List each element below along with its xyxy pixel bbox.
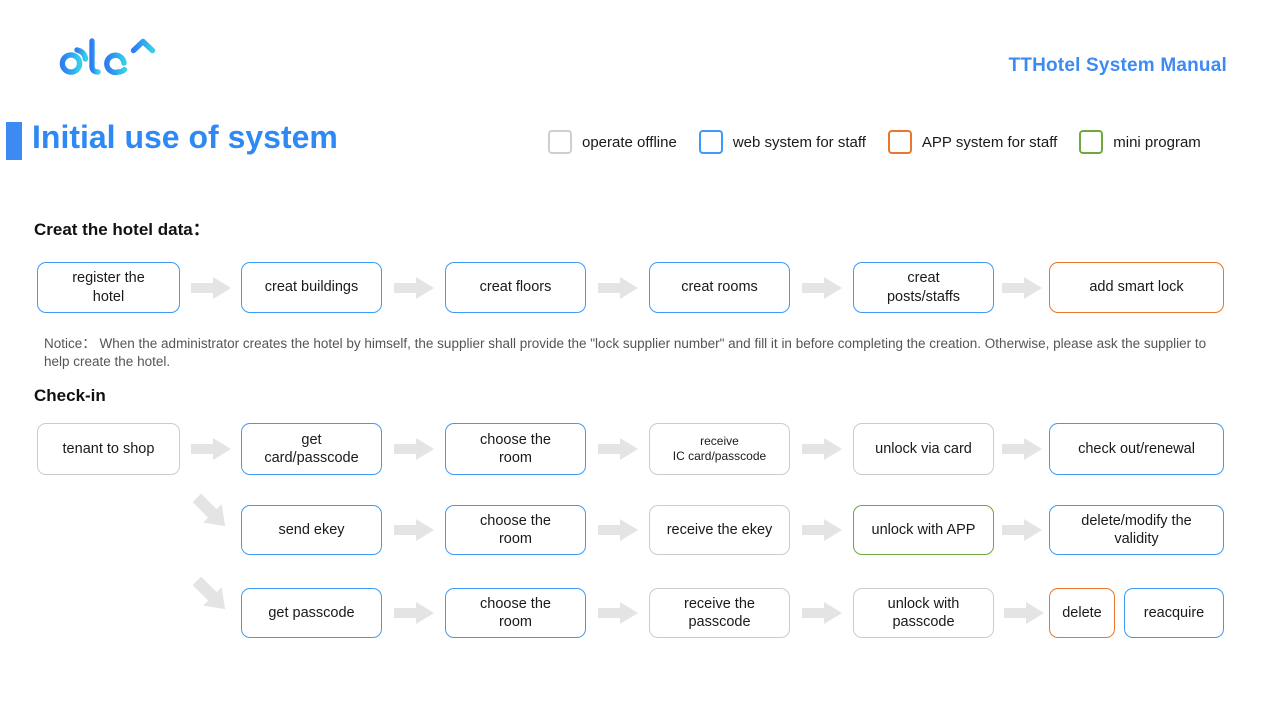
notice-text: Notice： When the administrator creates t… bbox=[44, 335, 1212, 371]
flow-node-creat-floors[interactable]: creat floors bbox=[445, 262, 586, 313]
flow-node-receive-the-ekey[interactable]: receive the ekey bbox=[649, 505, 790, 555]
legend-swatch-mini bbox=[1079, 130, 1103, 154]
flow-arrow-right-icon bbox=[598, 438, 638, 460]
flow-arrow-right-icon bbox=[394, 602, 434, 624]
flow-node-delete[interactable]: delete bbox=[1049, 588, 1115, 638]
legend-label-mini: mini program bbox=[1113, 134, 1201, 151]
flow-arrow-right-icon bbox=[394, 277, 434, 299]
flow-node-unlock-via-card[interactable]: unlock via card bbox=[853, 423, 994, 475]
flow-arrow-right-icon bbox=[598, 602, 638, 624]
flow-node-get-card-passcode[interactable]: getcard/passcode bbox=[241, 423, 382, 475]
legend-label-offline: operate offline bbox=[582, 134, 677, 151]
flow-node-receive-ic-card-passcode[interactable]: receiveIC card/passcode bbox=[649, 423, 790, 475]
flow-arrow-right-icon bbox=[598, 277, 638, 299]
flow-node-send-ekey[interactable]: send ekey bbox=[241, 505, 382, 555]
flow-arrow-right-icon bbox=[1002, 277, 1042, 299]
flow-node-creat-posts-staffs[interactable]: creatposts/staffs bbox=[853, 262, 994, 313]
flow-node-receive-the-passcode[interactable]: receive thepasscode bbox=[649, 588, 790, 638]
flow-node-creat-rooms[interactable]: creat rooms bbox=[649, 262, 790, 313]
legend-item-mini[interactable]: mini program bbox=[1079, 130, 1201, 154]
legend-label-web: web system for staff bbox=[733, 134, 866, 151]
manual-title: TTHotel System Manual bbox=[1008, 55, 1227, 77]
flow-arrow-right-icon bbox=[1002, 438, 1042, 460]
legend-item-web[interactable]: web system for staff bbox=[699, 130, 866, 154]
legend-label-app: APP system for staff bbox=[922, 134, 1057, 151]
flow-node-choose-the-room[interactable]: choose theroom bbox=[445, 588, 586, 638]
flow-node-choose-the-room[interactable]: choose theroom bbox=[445, 505, 586, 555]
legend-item-offline[interactable]: operate offline bbox=[548, 130, 677, 154]
flow-node-reacquire[interactable]: reacquire bbox=[1124, 588, 1224, 638]
flow-arrow-right-icon bbox=[1004, 602, 1044, 624]
legend-item-app[interactable]: APP system for staff bbox=[888, 130, 1057, 154]
flow-arrow-diagonal-icon bbox=[188, 489, 234, 535]
flow-node-unlock-with-passcode[interactable]: unlock withpasscode bbox=[853, 588, 994, 638]
flow-arrow-right-icon bbox=[394, 519, 434, 541]
flow-arrow-right-icon bbox=[802, 602, 842, 624]
section-heading-check-in: Check-in bbox=[34, 386, 106, 406]
flow-node-unlock-with-app[interactable]: unlock with APP bbox=[853, 505, 994, 555]
hotel-logo bbox=[30, 26, 160, 84]
flow-node-creat-buildings[interactable]: creat buildings bbox=[241, 262, 382, 313]
flow-node-check-out-renewal[interactable]: check out/renewal bbox=[1049, 423, 1224, 475]
flow-arrow-right-icon bbox=[802, 519, 842, 541]
flow-arrow-right-icon bbox=[394, 438, 434, 460]
flow-arrow-right-icon bbox=[802, 277, 842, 299]
legend-swatch-app bbox=[888, 130, 912, 154]
flow-arrow-right-icon bbox=[191, 277, 231, 299]
flow-node-delete-modify-the-validity[interactable]: delete/modify thevalidity bbox=[1049, 505, 1224, 555]
flow-arrow-diagonal-icon bbox=[188, 572, 234, 618]
legend: operate offlineweb system for staffAPP s… bbox=[548, 130, 1223, 154]
title-accent-bar bbox=[6, 122, 22, 160]
flow-arrow-right-icon bbox=[191, 438, 231, 460]
flow-arrow-right-icon bbox=[598, 519, 638, 541]
page-title: Initial use of system bbox=[32, 119, 338, 156]
flow-node-add-smart-lock[interactable]: add smart lock bbox=[1049, 262, 1224, 313]
flow-arrow-right-icon bbox=[1002, 519, 1042, 541]
legend-swatch-offline bbox=[548, 130, 572, 154]
section-heading-create-hotel-data: Creat the hotel data： bbox=[34, 215, 210, 240]
flow-node-get-passcode[interactable]: get passcode bbox=[241, 588, 382, 638]
flow-arrow-right-icon bbox=[802, 438, 842, 460]
legend-swatch-web bbox=[699, 130, 723, 154]
flow-node-tenant-to-shop[interactable]: tenant to shop bbox=[37, 423, 180, 475]
flow-node-register-the-hotel[interactable]: register thehotel bbox=[37, 262, 180, 313]
flow-node-choose-the-room[interactable]: choose theroom bbox=[445, 423, 586, 475]
